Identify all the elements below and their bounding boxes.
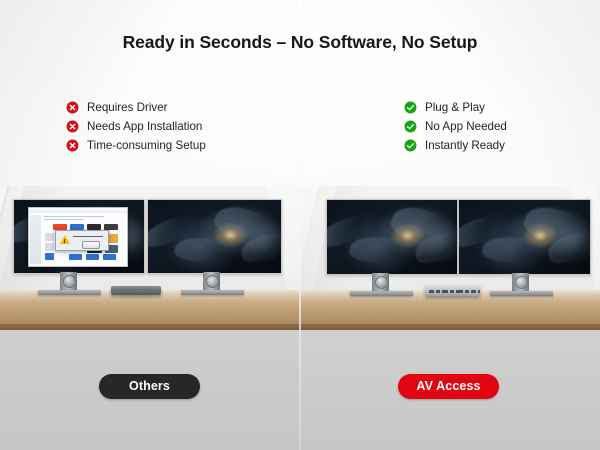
stand-hinge-detail bbox=[63, 275, 76, 288]
list-item-label: Needs App Installation bbox=[87, 120, 202, 133]
page-title: Ready in Seconds – No Software, No Setup bbox=[0, 32, 600, 53]
desk-left bbox=[0, 290, 300, 330]
desk-docking-station bbox=[425, 285, 480, 296]
desk-right bbox=[300, 290, 600, 330]
dialog-ok-button[interactable] bbox=[82, 241, 100, 249]
check-circle-icon bbox=[404, 101, 417, 114]
list-item-label: Instantly Ready bbox=[425, 139, 505, 152]
list-item: Time-consuming Setup bbox=[66, 136, 206, 155]
feature-list-av-access: Plug & Play No App Needed Instantly Read… bbox=[404, 98, 507, 155]
cross-circle-icon bbox=[66, 139, 79, 152]
monitor-stand-base bbox=[38, 290, 101, 295]
list-item: Plug & Play bbox=[404, 98, 507, 117]
badge-others: Others bbox=[99, 374, 200, 399]
wallpaper-dark-flower bbox=[148, 200, 281, 273]
stand-hinge-detail bbox=[206, 275, 219, 288]
monitor-left-secondary bbox=[147, 199, 282, 274]
monitor-stand-base bbox=[350, 291, 413, 296]
warning-dialog bbox=[55, 230, 109, 251]
scene-right-av-access bbox=[300, 186, 600, 330]
list-item-label: Time-consuming Setup bbox=[87, 139, 206, 152]
monitor-stand-base bbox=[490, 291, 553, 296]
monitor-screen bbox=[327, 200, 457, 274]
window-sidebar bbox=[30, 215, 41, 264]
cross-circle-icon bbox=[66, 101, 79, 114]
stand-hinge-detail bbox=[375, 276, 388, 289]
wallpaper-dark-flower bbox=[459, 200, 590, 274]
desk-device-dark bbox=[111, 286, 161, 295]
cross-circle-icon bbox=[66, 120, 79, 133]
window-content bbox=[29, 213, 127, 266]
monitor-screen bbox=[148, 200, 281, 273]
dock-ports bbox=[429, 289, 476, 293]
monitor-stand-base bbox=[181, 290, 244, 295]
center-divider bbox=[299, 0, 301, 450]
stand-hinge-detail bbox=[515, 276, 528, 289]
wallpaper-dark-flower bbox=[327, 200, 457, 274]
list-item-label: Requires Driver bbox=[87, 101, 168, 114]
list-item: Needs App Installation bbox=[66, 117, 206, 136]
monitor-left-primary bbox=[13, 199, 145, 274]
check-circle-icon bbox=[404, 139, 417, 152]
badge-av-access: AV Access bbox=[398, 374, 499, 399]
monitor-screen bbox=[14, 200, 144, 273]
promo-comparison-graphic: Ready in Seconds – No Software, No Setup… bbox=[0, 0, 600, 450]
scene-left-others bbox=[0, 186, 300, 330]
feature-list-others: Requires Driver Needs App Installation T… bbox=[66, 98, 206, 155]
monitor-right-primary bbox=[326, 199, 458, 275]
software-install-window bbox=[28, 207, 128, 267]
monitor-right-secondary bbox=[458, 199, 591, 275]
list-item: Instantly Ready bbox=[404, 136, 507, 155]
list-item-label: Plug & Play bbox=[425, 101, 485, 114]
list-item: Requires Driver bbox=[66, 98, 206, 117]
list-item: No App Needed bbox=[404, 117, 507, 136]
check-circle-icon bbox=[404, 120, 417, 133]
list-item-label: No App Needed bbox=[425, 120, 507, 133]
warning-triangle-icon bbox=[60, 235, 70, 244]
monitor-screen bbox=[459, 200, 590, 274]
